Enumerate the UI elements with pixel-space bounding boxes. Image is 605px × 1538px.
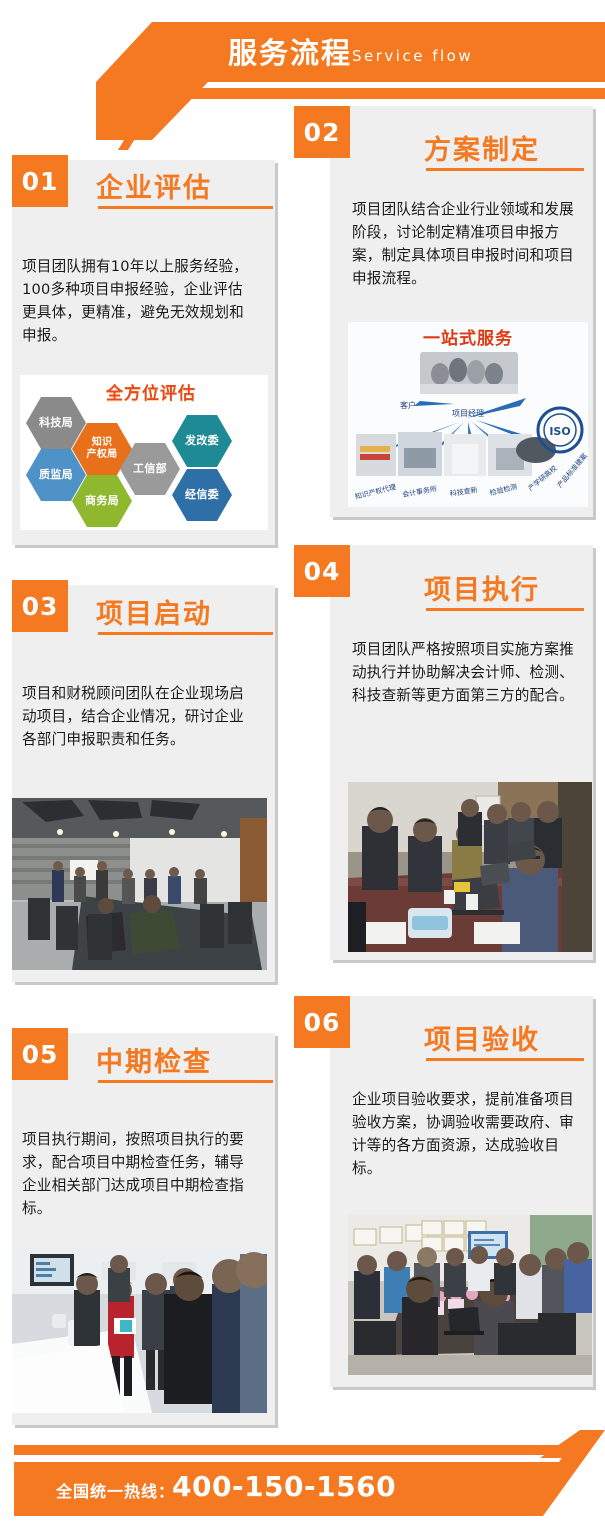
svg-text:ISO: ISO [549,425,570,438]
title-underline-03 [98,632,273,635]
page-footer: 全国统一热线： 400-150-1560 [0,1430,605,1538]
step-body-04: 项目团队严格按照项目实施方案推动执行并协助解决会计师、检测、科技查新等更方面第三… [352,638,580,707]
step-number-badge-02: 02 [294,106,350,158]
header-accent-stripe [150,88,605,99]
step-number-badge-04: 04 [294,545,350,597]
infographic-page: 服务流程 Service flow 01 企业评估 项目团队拥有10年以上服务经… [0,0,605,1538]
step-body-05: 项目执行期间，按照项目执行的要求，配合项目中期检查任务，辅导企业相关部门达成项目… [22,1128,254,1220]
footer-accent-stripe [14,1445,577,1455]
step-title-01: 企业评估 [96,166,212,205]
hexagon-diagram: 全方位评估 科技局 知识产权局 发改委 质监局 工信部 商务局 经信委 [20,375,268,530]
step-number-badge-06: 06 [294,996,350,1048]
hotline-number[interactable]: 400-150-1560 [172,1470,396,1503]
large-meeting-photo [348,1215,592,1375]
page-title: 服务流程 [228,32,352,74]
site-visit-photo [12,1248,267,1413]
step-number-badge-01: 01 [12,155,68,207]
conference-room-photo [12,798,267,970]
step-body-06: 企业项目验收要求，提前准备项目验收方案，协调验收需要政府、审计等的各方面资源，达… [352,1088,580,1180]
meeting-laptops-photo [348,782,592,952]
title-underline-04 [426,608,584,611]
hexagon-jingxin-wei: 经信委 [172,469,232,521]
step-number-badge-03: 03 [12,580,68,632]
svg-text:一站式服务: 一站式服务 [423,328,513,349]
step-title-03: 项目启动 [96,592,212,631]
one-stop-service-diagram: 一站式服务 客户 项目经理 [348,322,588,507]
step-title-06: 项目验收 [424,1018,540,1057]
hexagon-diagram-title: 全方位评估 [106,379,196,404]
step-body-02: 项目团队结合企业行业领域和发展阶段，讨论制定精准项目申报方案，制定具体项目申报时… [352,198,580,290]
step-body-03: 项目和财税顾问团队在企业现场启动项目，结合企业情况，研讨企业各部门申报职责和任务… [22,682,254,751]
step-title-04: 项目执行 [424,568,540,607]
svg-text:项目经理: 项目经理 [452,408,484,418]
svg-text:客户: 客户 [400,400,416,410]
title-underline-01 [98,206,273,209]
title-underline-05 [98,1080,273,1083]
page-subtitle: Service flow [352,44,473,68]
step-title-02: 方案制定 [424,128,540,167]
step-number-badge-05: 05 [12,1028,68,1080]
step-title-05: 中期检查 [96,1040,212,1079]
step-body-01: 项目团队拥有10年以上服务经验，100多种项目申报经验，企业评估更具体，更精准，… [22,255,254,347]
hexagon-fagai-wei: 发改委 [172,415,232,467]
title-underline-06 [426,1058,584,1061]
title-underline-02 [426,168,584,171]
page-header: 服务流程 Service flow [0,0,605,120]
hotline-label: 全国统一热线： [56,1478,175,1502]
